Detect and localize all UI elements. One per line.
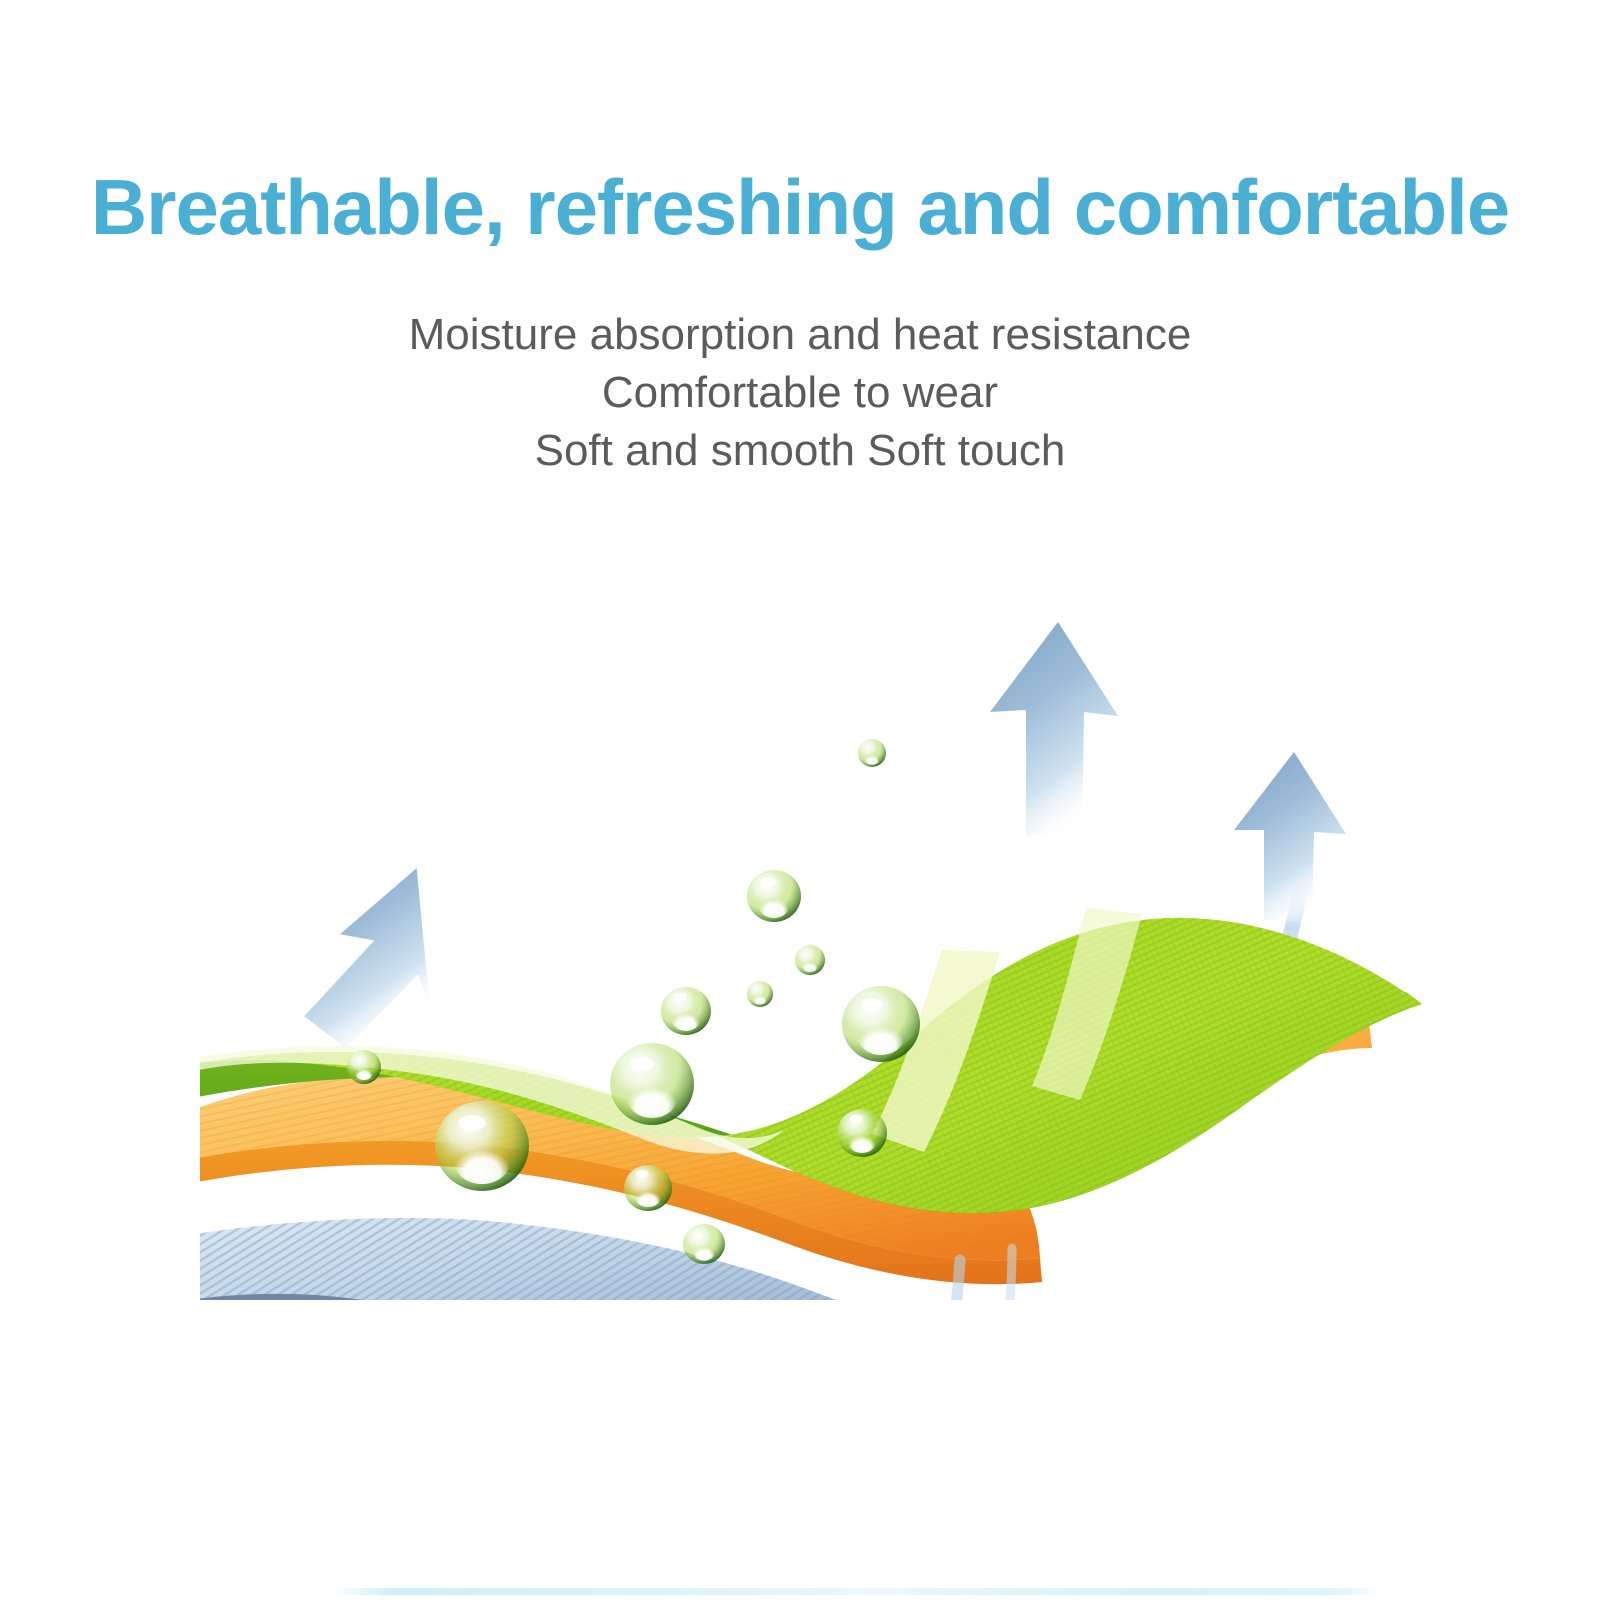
airflow-arrow-center [990, 622, 1118, 838]
subtitle-block: Moisture absorption and heat resistance … [0, 306, 1600, 480]
subtitle-line-1: Moisture absorption and heat resistance [0, 306, 1600, 364]
fabric-layers-illustration: Breathable [200, 500, 1460, 1300]
subtitle-line-3: Soft and smooth Soft touch [0, 422, 1600, 480]
footer-divider-strip [330, 1588, 1385, 1595]
airflow-arrow-left [297, 868, 432, 1050]
page-title: Breathable, refreshing and comfortable [0, 168, 1600, 246]
subtitle-line-2: Comfortable to wear [0, 364, 1600, 422]
airflow-arrow-right [1234, 752, 1346, 922]
product-feature-banner: Breathable, refreshing and comfortable M… [0, 0, 1600, 1600]
